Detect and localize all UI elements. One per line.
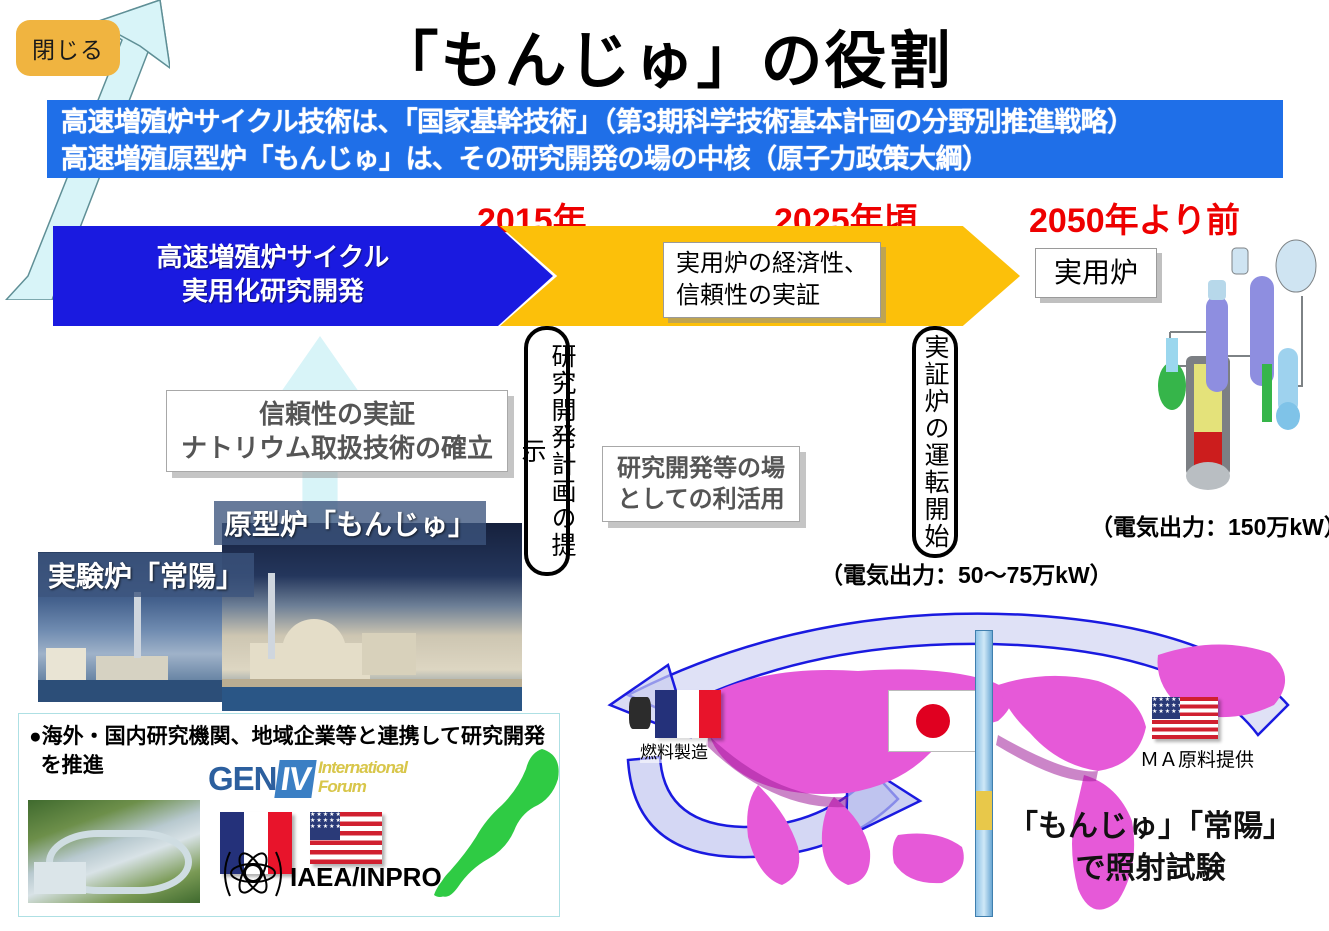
timeline-phase1-line2: 実用化研究開発 <box>53 274 493 308</box>
japan-flag-map <box>888 690 978 752</box>
reliability-line2: ナトリウム取扱技術の確立 <box>181 431 493 465</box>
usa-flag-panel: ★★★★★★★★★★★★★★★★★★ <box>310 812 382 864</box>
gen4-logo-subtitle: International Forum <box>318 758 407 796</box>
ma-material-label: ＭＡ原料提供 <box>1140 745 1254 772</box>
gen4-logo-numeral: IV <box>274 760 317 798</box>
rd-use-line1: 研究開発等の場 <box>617 453 785 484</box>
rd-use-callout: 研究開発等の場 としての利活用 <box>602 446 800 522</box>
irradiation-line2: で照射試験 <box>1008 848 1293 890</box>
usa-flag-canton: ★★★★★★★★★★★★★★★★★★ <box>1152 697 1180 719</box>
usa-flag-map: ★★★★★★★★★★★★★★★★★★ <box>1152 697 1218 739</box>
usa-flag-panel-canton: ★★★★★★★★★★★★★★★★★★ <box>310 812 340 840</box>
gen4-sub-line2: Forum <box>318 777 366 796</box>
france-flag-map <box>655 690 721 738</box>
policy-banner-line2: 高速増殖原型炉「もんじゅ」は、その研究開発の場の中核（原子力政策大綱） <box>61 141 1283 178</box>
fuel-rod-icon <box>975 630 993 917</box>
fuel-manufacture-label: 燃料製造 <box>640 738 708 763</box>
phase3-commercial-reactor-box: 実用炉 <box>1035 248 1157 298</box>
monju-reactor-photo <box>222 523 522 711</box>
timeline-phase1-label: 高速増殖炉サイクル 実用化研究開発 <box>53 240 493 308</box>
commercial-power-output-label: （電気出力：150万kW） <box>1090 508 1329 542</box>
phase2-description-box: 実用炉の経済性、 信頼性の実証 <box>663 242 881 318</box>
japan-flag-disc <box>916 704 950 738</box>
japan-map-shape <box>430 745 570 905</box>
gen4-international-forum-logo: GENIV International Forum <box>208 760 428 814</box>
reliability-callout: 信頼性の実証 ナトリウム取扱技術の確立 <box>166 390 508 472</box>
rd-use-line2: としての利活用 <box>617 484 785 515</box>
policy-banner: 高速増殖炉サイクル技術は、「国家基幹技術」（第3期科学技術基本計画の分野別推進戦… <box>47 100 1283 178</box>
irradiation-line1: 「もんじゅ」「常陽」 <box>1008 806 1293 848</box>
irradiation-test-label: 「もんじゅ」「常陽」 で照射試験 <box>1008 806 1293 890</box>
timeline-phase1-arrow: 高速増殖炉サイクル 実用化研究開発 <box>53 226 553 326</box>
phase2-line2: 信頼性の実証 <box>676 280 868 312</box>
timeline-phase1-line1: 高速増殖炉サイクル <box>53 240 493 274</box>
slide-canvas: 閉じる 「もんじゅ」の役割 高速増殖炉サイクル技術は、「国家基幹技術」（第3期科… <box>0 0 1329 931</box>
page-title: 「もんじゅ」の役割 <box>0 10 1329 100</box>
monju-photo-label: 原型炉「もんじゅ」 <box>214 501 486 545</box>
iaea-inpro-label: IAEA/INPRO <box>290 862 442 893</box>
phenix-facility-photo <box>28 800 200 903</box>
phase2-line1: 実用炉の経済性、 <box>676 248 868 280</box>
iaea-logo-icon <box>218 840 288 906</box>
reliability-line1: 信頼性の実証 <box>181 397 493 431</box>
demo-operation-vertical-box: 実証炉の運転開始 <box>912 326 958 558</box>
rd-plan-vertical-box: 研究開発計画の提示 <box>524 326 570 576</box>
fuel-canister-icon <box>629 697 651 729</box>
gen4-logo-main: GEN <box>208 760 277 797</box>
gen4-sub-line1: International <box>318 758 407 777</box>
policy-banner-line1: 高速増殖炉サイクル技術は、「国家基幹技術」（第3期科学技術基本計画の分野別推進戦… <box>61 104 1283 141</box>
joyo-photo-label: 実験炉「常陽」 <box>38 553 254 597</box>
commercial-reactor-illustration <box>1150 236 1325 516</box>
timeline-year-2050: 2050年より前 <box>1029 193 1240 242</box>
